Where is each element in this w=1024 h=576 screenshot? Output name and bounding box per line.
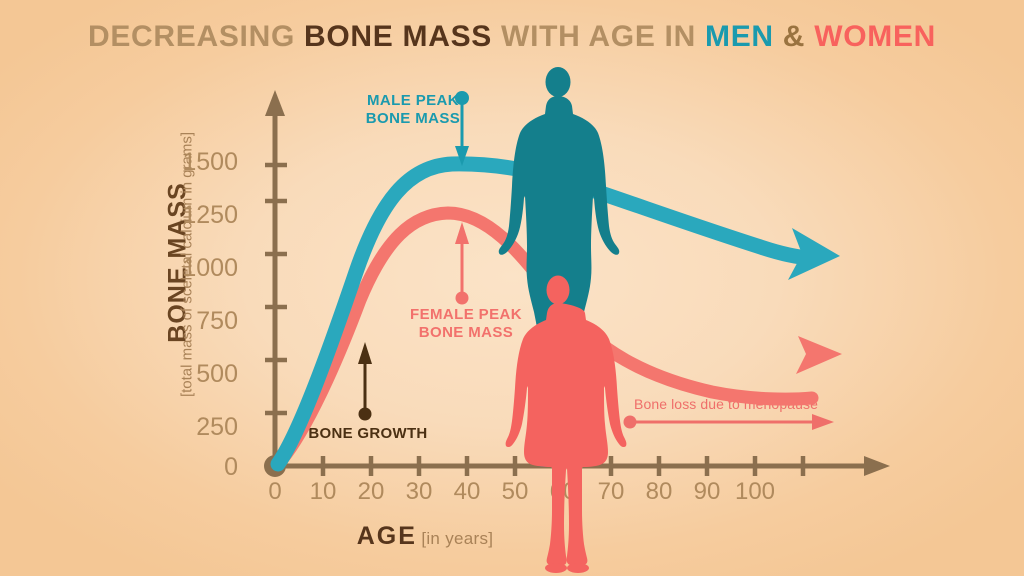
bone-growth-arrow xyxy=(358,342,372,421)
chart-graphics xyxy=(0,0,1024,576)
infographic-root: DECREASING BONE MASS WITH AGE IN MEN & W… xyxy=(0,0,1024,576)
male-peak-arrow xyxy=(455,91,469,166)
female-peak-arrow xyxy=(455,222,469,305)
y-axis xyxy=(264,90,287,477)
female-figure-silhouette xyxy=(506,276,627,574)
menopause-arrow xyxy=(624,414,835,430)
